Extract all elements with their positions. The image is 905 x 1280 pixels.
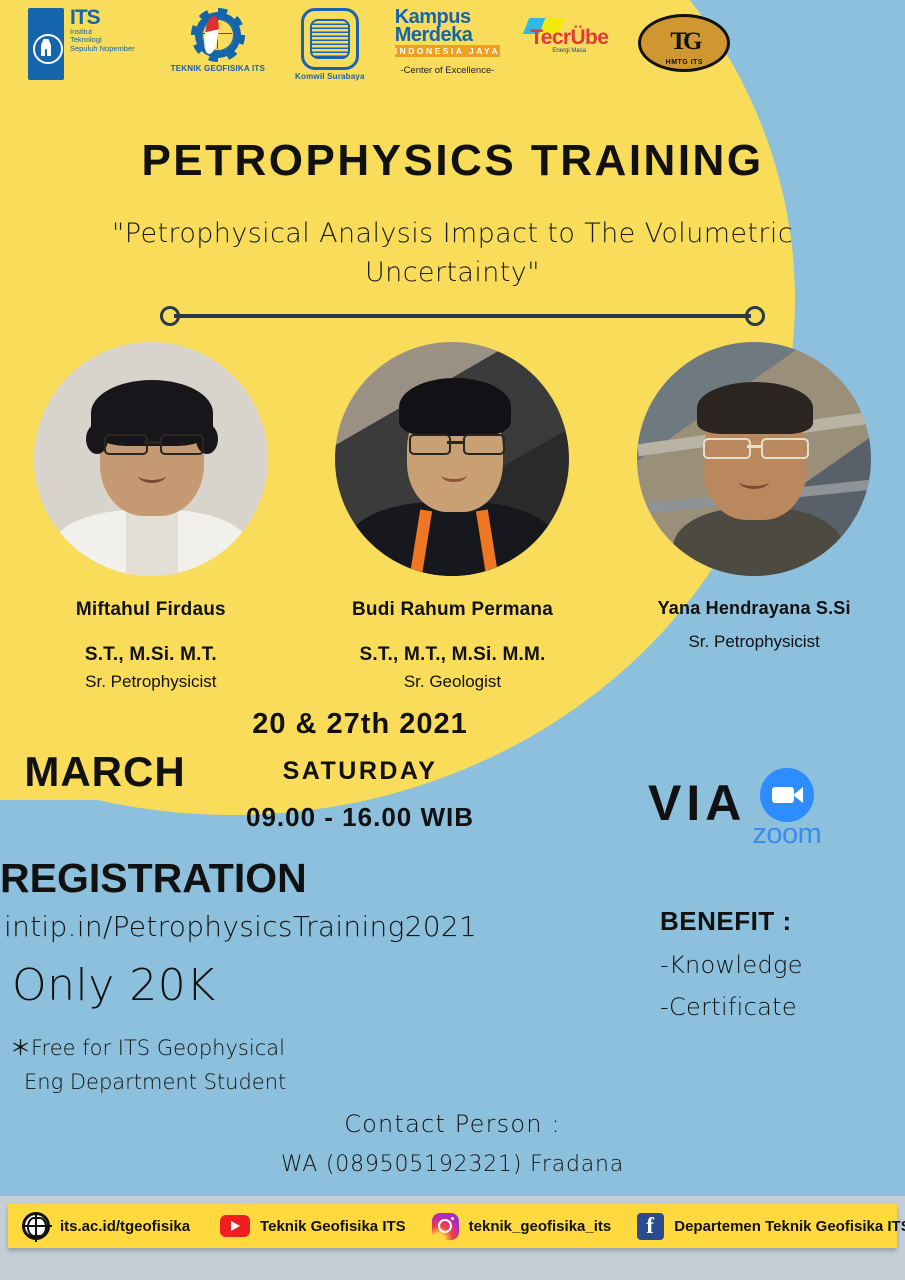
speaker-card: Yana Hendrayana S.Si Sr. Petrophysicist	[614, 342, 894, 682]
komwil-caption: Komwil Surabaya	[295, 72, 365, 81]
zoom-camera-icon	[760, 768, 814, 822]
footer-website-label: its.ac.id/tgeofisika	[60, 1218, 190, 1235]
logo-strip: ITS Institut Teknologi Sepuluh Nopember …	[0, 8, 905, 100]
hmtg-oval-icon: TG HMTG ITS	[638, 14, 730, 72]
speaker-photo-2	[335, 342, 569, 576]
hmtg-tc-logo: TG HMTG ITS	[638, 14, 730, 72]
via-label: VIA	[648, 778, 746, 828]
instagram-icon	[432, 1213, 459, 1240]
footer-social-bar: its.ac.id/tgeofisika Teknik Geofisika IT…	[8, 1204, 897, 1248]
contact-block: Contact Person : WA (089505192321) Frada…	[0, 1110, 905, 1177]
speaker-degrees-1: S.T., M.Si. M.T.	[11, 643, 291, 666]
page-subtitle: "Petrophysical Analysis Impact to The Vo…	[60, 214, 845, 292]
poster-canvas: ITS Institut Teknologi Sepuluh Nopember …	[0, 0, 905, 1280]
registration-heading: REGISTRATION	[0, 855, 307, 902]
speaker-card: Miftahul Firdaus S.T., M.Si. M.T. Sr. Pe…	[11, 342, 291, 682]
registration-note-line2: Eng Department Student	[24, 1066, 286, 1100]
speakers-row: Miftahul Firdaus S.T., M.Si. M.T. Sr. Pe…	[0, 342, 905, 682]
decorative-divider	[160, 306, 765, 326]
speaker-name-3: Yana Hendrayana S.Si	[614, 598, 894, 620]
footer-facebook-label: Departemen Teknik Geofisika ITS	[674, 1218, 905, 1235]
registration-price: Only 20K	[12, 960, 216, 1011]
youtube-icon	[220, 1215, 250, 1237]
its-logo: ITS Institut Teknologi Sepuluh Nopember	[28, 8, 135, 80]
teknik-geofisika-logo: TEKNIK GEOFISIKA ITS	[171, 8, 265, 73]
event-date-block: 20 & 27th 2021 SATURDAY 09.00 - 16.00 WI…	[200, 708, 520, 833]
divider-right-knob-icon	[745, 306, 765, 326]
hmtg-caption: HMTG ITS	[641, 59, 727, 66]
speaker-role-1: Sr. Petrophysicist	[11, 672, 291, 692]
komwil-emblem-icon	[301, 8, 359, 70]
footer-youtube-label: Teknik Geofisika ITS	[260, 1218, 406, 1235]
benefit-block: BENEFIT : -Knowledge -Certificate	[660, 906, 803, 1021]
page-title: PETROPHYSICS TRAINING	[0, 136, 905, 186]
its-logo-main: ITS	[70, 8, 135, 28]
speaker-photo-1	[34, 342, 268, 576]
contact-heading: Contact Person :	[0, 1110, 905, 1138]
kampus-merdeka-line2: Merdeka	[395, 26, 500, 44]
benefit-item-certificate: -Certificate	[660, 993, 803, 1021]
tecrube-wordmark: TecrÜbe	[530, 26, 608, 50]
footer-instagram[interactable]: teknik_geofisika_its	[432, 1213, 612, 1240]
speaker-role-2: Sr. Geologist	[312, 672, 592, 692]
speaker-photo-3	[637, 342, 871, 576]
registration-note: ＊Free for ITS Geophysical Eng Department…	[10, 1032, 286, 1099]
footer-facebook[interactable]: Departemen Teknik Geofisika ITS	[637, 1213, 905, 1240]
footer-website[interactable]: its.ac.id/tgeofisika	[22, 1212, 190, 1240]
registration-link[interactable]: intip.in/PetrophysicsTraining2021	[4, 910, 477, 943]
its-logo-sub-3: Sepuluh Nopember	[70, 45, 135, 53]
event-time: 09.00 - 16.00 WIB	[200, 802, 520, 833]
event-dates: 20 & 27th 2021	[200, 708, 520, 741]
footer-instagram-label: teknik_geofisika_its	[469, 1218, 612, 1235]
kampus-merdeka-line3: INDONESIA JAYA	[395, 45, 500, 57]
facebook-icon	[637, 1213, 664, 1240]
kampus-merdeka-caption: -Center of Excellence-	[395, 65, 500, 76]
hmtg-glyph: TG	[670, 28, 698, 56]
speaker-card: Budi Rahum Permana S.T., M.T., M.Si. M.M…	[312, 342, 592, 682]
speaker-degrees-2: S.T., M.T., M.Si. M.M.	[312, 643, 592, 666]
its-emblem-icon	[28, 8, 64, 80]
teknik-geofisika-caption: TEKNIK GEOFISIKA ITS	[171, 64, 265, 73]
benefit-item-knowledge: -Knowledge	[660, 951, 803, 979]
registration-note-line1: ＊Free for ITS Geophysical	[10, 1036, 285, 1060]
komwil-surabaya-logo: Komwil Surabaya	[295, 8, 365, 81]
speaker-name-1: Miftahul Firdaus	[11, 598, 291, 621]
zoom-wordmark: zoom	[752, 818, 821, 851]
divider-bar	[174, 314, 751, 318]
benefit-heading: BENEFIT :	[660, 906, 803, 937]
speaker-role-3: Sr. Petrophysicist	[614, 632, 894, 652]
speaker-name-2: Budi Rahum Permana	[312, 598, 592, 621]
event-day: SATURDAY	[200, 757, 520, 786]
contact-detail: WA (089505192321) Fradana	[0, 1152, 905, 1177]
gear-globe-icon	[191, 8, 245, 62]
globe-icon	[22, 1212, 50, 1240]
event-month: MARCH	[0, 748, 210, 796]
via-platform-block: VIA zoom	[648, 778, 821, 851]
tecrube-logo: TecrÜbe Energi Masa	[530, 26, 608, 54]
footer-youtube[interactable]: Teknik Geofisika ITS	[220, 1215, 406, 1237]
kampus-merdeka-logo: Kampus Merdeka INDONESIA JAYA -Center of…	[395, 8, 500, 76]
